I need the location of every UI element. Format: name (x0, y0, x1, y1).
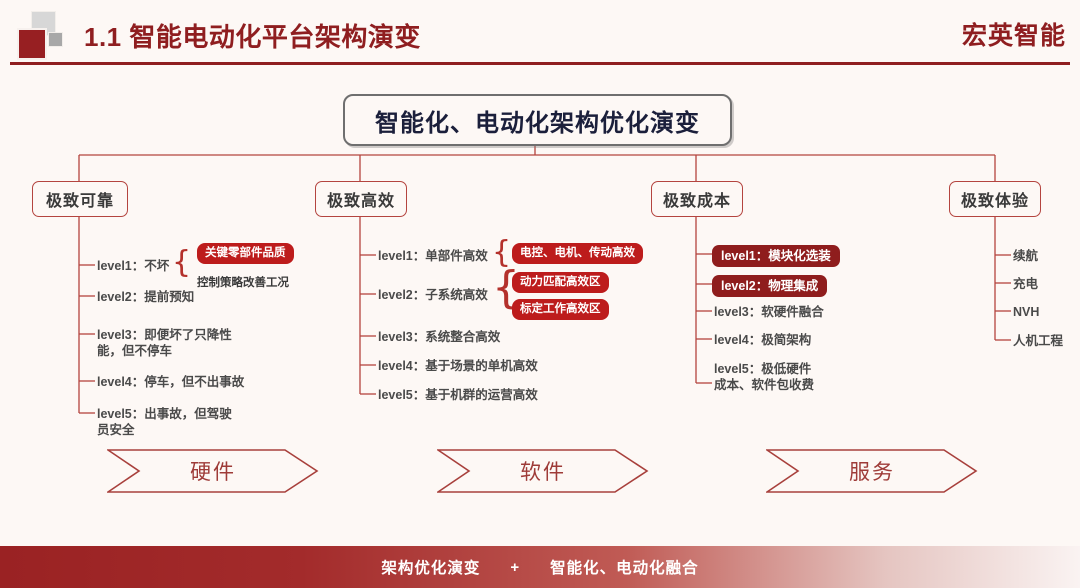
category-box-experience[interactable]: 极致体验 (949, 181, 1041, 217)
decor-square-red (17, 28, 47, 60)
level-item: level5：基于机群的运营高效 (378, 387, 538, 403)
slide-footer: 架构优化演变 + 智能化、电动化融合 (0, 546, 1080, 588)
brace-icon: { (172, 248, 191, 278)
level-item: level4：停车，但不出事故 (97, 374, 244, 390)
level-item-highlighted: level1：模块化选装 (712, 245, 840, 267)
category-label: 极致成本 (663, 187, 731, 211)
company-logo: 宏英智能 (962, 16, 1066, 52)
level-item: level5：极低硬件成本、软件包收费 (714, 361, 822, 393)
header-divider (10, 62, 1070, 65)
experience-item: 人机工程 (1013, 333, 1063, 349)
chevron-software[interactable]: 软件 (437, 449, 649, 493)
level-item: level3：即便坏了只降性能，但不停车 (97, 327, 232, 359)
level-item: level1：单部件高效 (378, 248, 488, 264)
level-item: level3：系统整合高效 (378, 329, 500, 345)
badge-key-component-quality: 关键零部件品质 (197, 243, 294, 264)
chevron-label: 服务 (766, 449, 978, 493)
level-item: level2：提前预知 (97, 289, 194, 305)
slide-canvas: 1.1 智能电动化平台架构演变 宏英智能 (0, 0, 1080, 588)
badge-drive-efficiency: 电控、电机、传动高效 (512, 243, 643, 264)
category-box-efficiency[interactable]: 极致高效 (315, 181, 407, 217)
category-label: 极致高效 (327, 187, 395, 211)
level-item-highlighted: level2：物理集成 (712, 275, 827, 297)
chevron-hardware[interactable]: 硬件 (107, 449, 319, 493)
chevron-label: 软件 (437, 449, 649, 493)
footer-left-text: 架构优化演变 (381, 556, 480, 578)
level-item: level2：子系统高效 (378, 287, 488, 303)
decor-square-gray-small (48, 32, 63, 47)
experience-item: 充电 (1013, 276, 1038, 292)
footer-right-text: 智能化、电动化融合 (550, 556, 699, 578)
badge-power-match-zone: 动力匹配高效区 (512, 272, 609, 293)
experience-item: NVH (1013, 304, 1039, 320)
chevron-label: 硬件 (107, 449, 319, 493)
page-title: 1.1 智能电动化平台架构演变 (84, 17, 421, 54)
category-label: 极致体验 (961, 187, 1029, 211)
level-item: level5：出事故，但驾驶员安全 (97, 406, 232, 438)
chevron-service[interactable]: 服务 (766, 449, 978, 493)
badge-calibration-zone: 标定工作高效区 (512, 299, 609, 320)
experience-item: 续航 (1013, 248, 1038, 264)
level-item: level3：软硬件融合 (714, 304, 824, 320)
note-control-strategy: 控制策略改善工况 (197, 274, 289, 290)
root-title-text: 智能化、电动化架构优化演变 (375, 103, 700, 138)
root-title-box: 智能化、电动化架构优化演变 (343, 94, 732, 146)
slide-header: 1.1 智能电动化平台架构演变 宏英智能 (0, 0, 1080, 66)
category-label: 极致可靠 (46, 187, 114, 211)
level-item: level4：基于场景的单机高效 (378, 358, 538, 374)
footer-plus-sign: + (510, 559, 520, 576)
category-box-reliability[interactable]: 极致可靠 (32, 181, 128, 217)
level-item: level4：极简架构 (714, 332, 811, 348)
level-item: level1：不坏 (97, 258, 169, 274)
category-box-cost[interactable]: 极致成本 (651, 181, 743, 217)
